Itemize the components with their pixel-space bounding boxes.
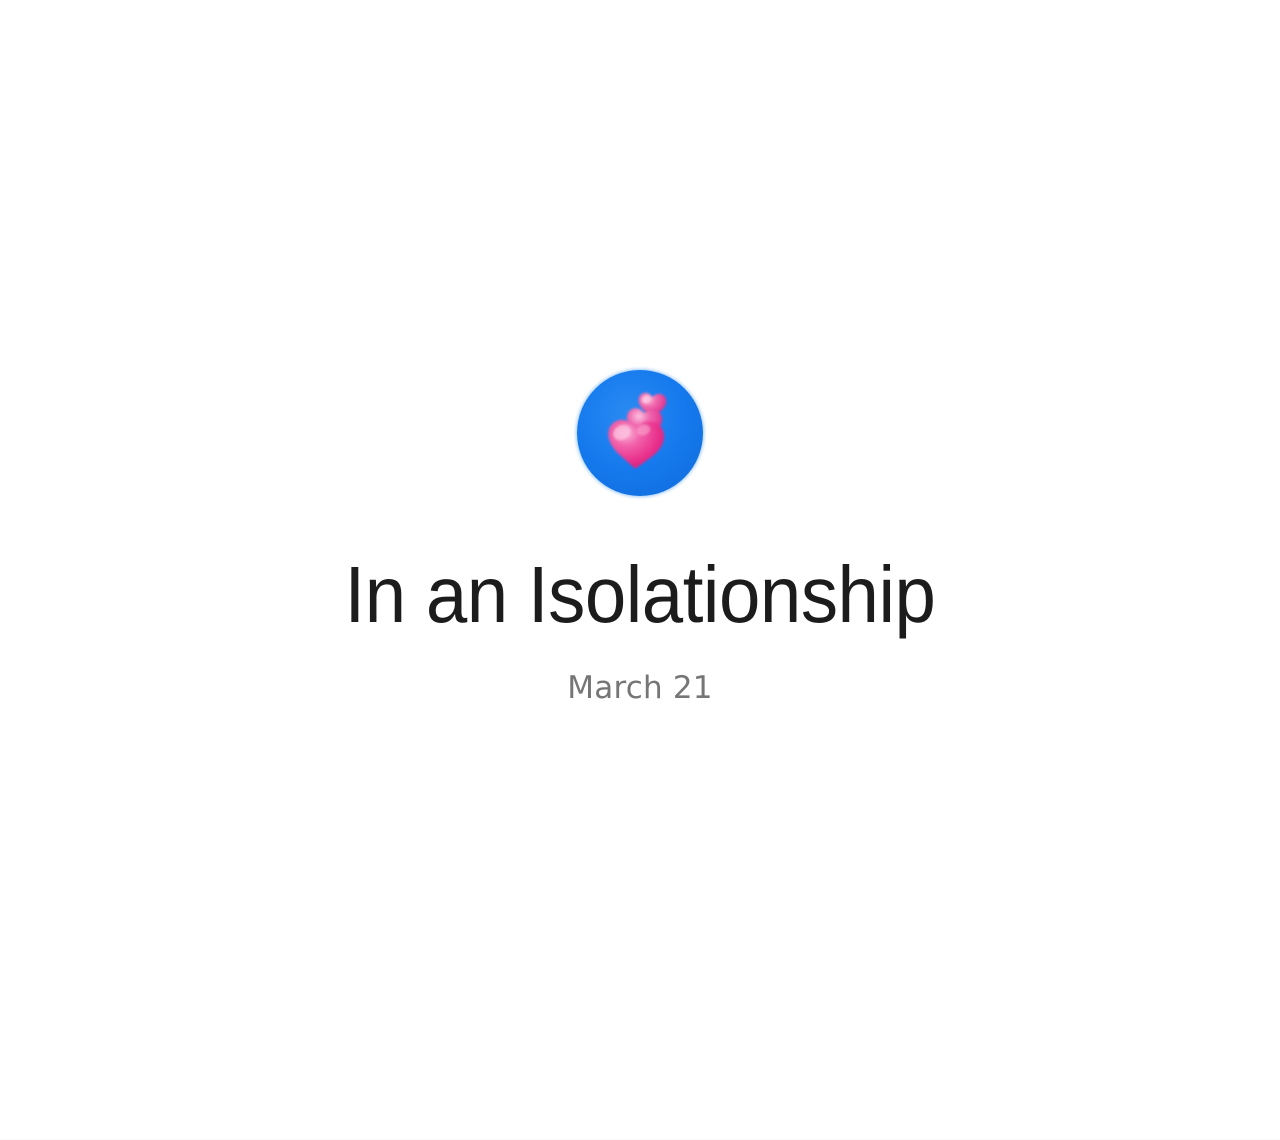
date-label: March 21 — [0, 668, 1280, 708]
large-heart-icon — [608, 420, 664, 469]
status-card: In an Isolationship March 21 — [0, 0, 1280, 1140]
two-hearts-icon — [577, 370, 703, 496]
hearts-graphic — [577, 370, 703, 496]
page-title: In an Isolationship — [45, 549, 1235, 641]
status-icon-wrapper — [575, 368, 705, 498]
